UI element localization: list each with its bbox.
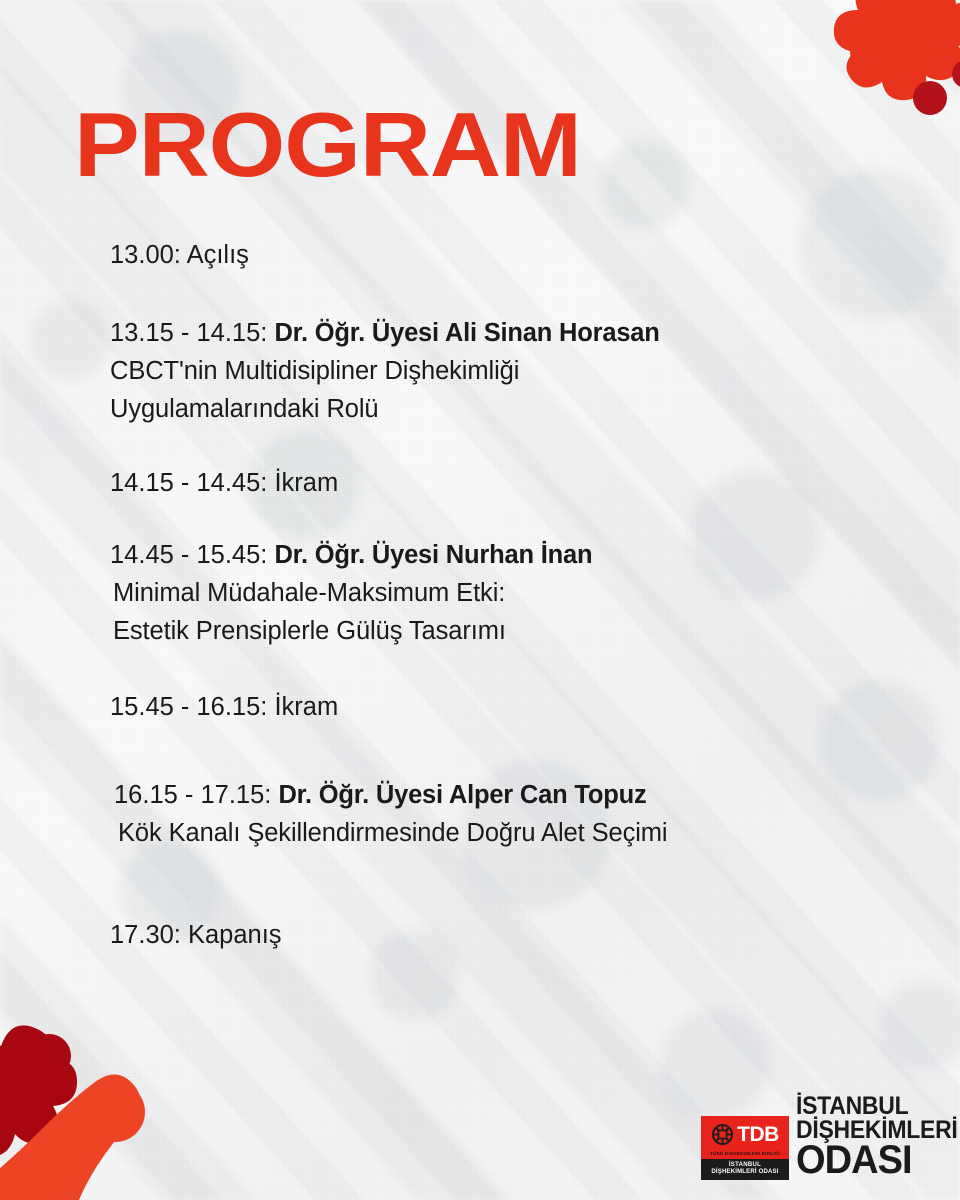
program-entry-speaker: Dr. Öğr. Üyesi Nurhan İnan	[274, 541, 592, 569]
program-entry-topic: Estetik Prensiplerle Gülüş Tasarımı	[110, 612, 592, 650]
program-entry: 14.15 - 14.45: İkram	[110, 464, 338, 502]
program-entry-time-line: 17.30: Kapanış	[110, 916, 282, 954]
wordmark-line-odasi: ODASI	[796, 1142, 960, 1179]
program-entry-time-line: 13.00: Açılış	[110, 236, 249, 274]
program-entry-time: 13.15 - 14.15:	[110, 319, 274, 347]
program-entry-topic: Minimal Müdahale-Maksimum Etki:	[110, 574, 592, 612]
program-entry-time-line: 14.15 - 14.45: İkram	[110, 464, 338, 502]
program-entry: 13.00: Açılış	[110, 236, 249, 274]
logo-lockup: TDB TÜRK DİŞHEKİMLERİ BİRLİĞİ İSTANBUL D…	[701, 1094, 960, 1180]
tdb-knot-emblem	[711, 1123, 734, 1146]
program-poster: PROGRAM 13.00: Açılış 13.15 - 14.15: Dr.…	[0, 0, 960, 1200]
program-entry-time: 15.45 - 16.15: İkram	[110, 693, 338, 721]
program-entry-speaker: Dr. Öğr. Üyesi Ali Sinan Horasan	[274, 319, 659, 347]
red-paint-splat-top-right	[830, 0, 960, 150]
program-entry: 15.45 - 16.15: İkram	[110, 688, 338, 726]
red-paint-splat-bottom-left	[0, 1020, 155, 1200]
program-entry: 17.30: Kapanış	[110, 916, 282, 954]
program-entry-time: 13.00: Açılış	[110, 241, 249, 269]
program-entry: 16.15 - 17.15: Dr. Öğr. Üyesi Alper Can …	[114, 776, 668, 852]
tdb-badge: TDB TÜRK DİŞHEKİMLERİ BİRLİĞİ İSTANBUL D…	[701, 1116, 789, 1180]
program-entry-time-line: 14.45 - 15.45: Dr. Öğr. Üyesi Nurhan İna…	[110, 536, 592, 574]
program-entry-time: 17.30: Kapanış	[110, 921, 282, 949]
program-entry: 14.45 - 15.45: Dr. Öğr. Üyesi Nurhan İna…	[110, 536, 592, 650]
logo-wordmark: İSTANBUL DİŞHEKİMLERİ ODASI	[796, 1094, 960, 1180]
program-entry-topic: Uygulamalarındaki Rolü	[110, 390, 660, 428]
program-entry: 13.15 - 14.15: Dr. Öğr. Üyesi Ali Sinan …	[110, 314, 660, 428]
wordmark-line-istanbul: İSTANBUL	[796, 1094, 958, 1118]
tdb-acronym: TDB	[737, 1124, 779, 1145]
program-entry-time-line: 15.45 - 16.15: İkram	[110, 688, 338, 726]
program-entry-time: 14.45 - 15.45:	[110, 541, 274, 569]
program-entry-time: 16.15 - 17.15:	[114, 781, 278, 809]
page-title: PROGRAM	[74, 100, 581, 191]
tdb-badge-dark-bar: İSTANBUL DİŞHEKİMLERİ ODASI	[701, 1159, 789, 1180]
program-entry-topic: Kök Kanalı Şekillendirmesinde Doğru Alet…	[114, 814, 668, 852]
tdb-badge-subtitle: TÜRK DİŞHEKİMLERİ BİRLİĞİ	[710, 1151, 780, 1156]
tdb-badge-red-panel: TDB TÜRK DİŞHEKİMLERİ BİRLİĞİ	[701, 1116, 789, 1159]
program-entry-time-line: 13.15 - 14.15: Dr. Öğr. Üyesi Ali Sinan …	[110, 314, 660, 352]
program-entry-time-line: 16.15 - 17.15: Dr. Öğr. Üyesi Alper Can …	[114, 776, 668, 814]
program-entry-topic: CBCT'nin Multidisipliner Dişhekimliği	[110, 352, 660, 390]
tdb-badge-bar-line2: DİŞHEKİMLERİ ODASI	[703, 1169, 787, 1177]
program-entry-time: 14.15 - 14.45: İkram	[110, 469, 338, 497]
program-entry-speaker: Dr. Öğr. Üyesi Alper Can Topuz	[278, 781, 646, 809]
